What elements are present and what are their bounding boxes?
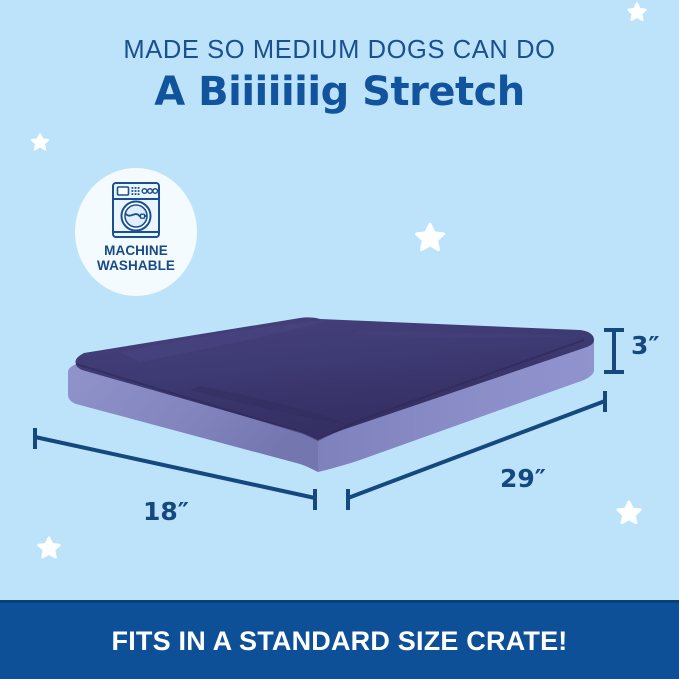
dimension-label-width: 18″	[143, 499, 189, 524]
product-infographic: MADE SO MEDIUM DOGS CAN DO A Biiiiiiig S…	[0, 0, 679, 679]
dimension-label-height: 3″	[631, 333, 660, 358]
banner-text: FITS IN A STANDARD SIZE CRATE!	[112, 626, 568, 657]
product-stage: 18″ 29″ 3″	[0, 0, 679, 600]
bottom-banner: FITS IN A STANDARD SIZE CRATE!	[0, 600, 679, 679]
dimension-label-length: 29″	[500, 466, 546, 491]
dimension-line-3	[604, 330, 624, 372]
